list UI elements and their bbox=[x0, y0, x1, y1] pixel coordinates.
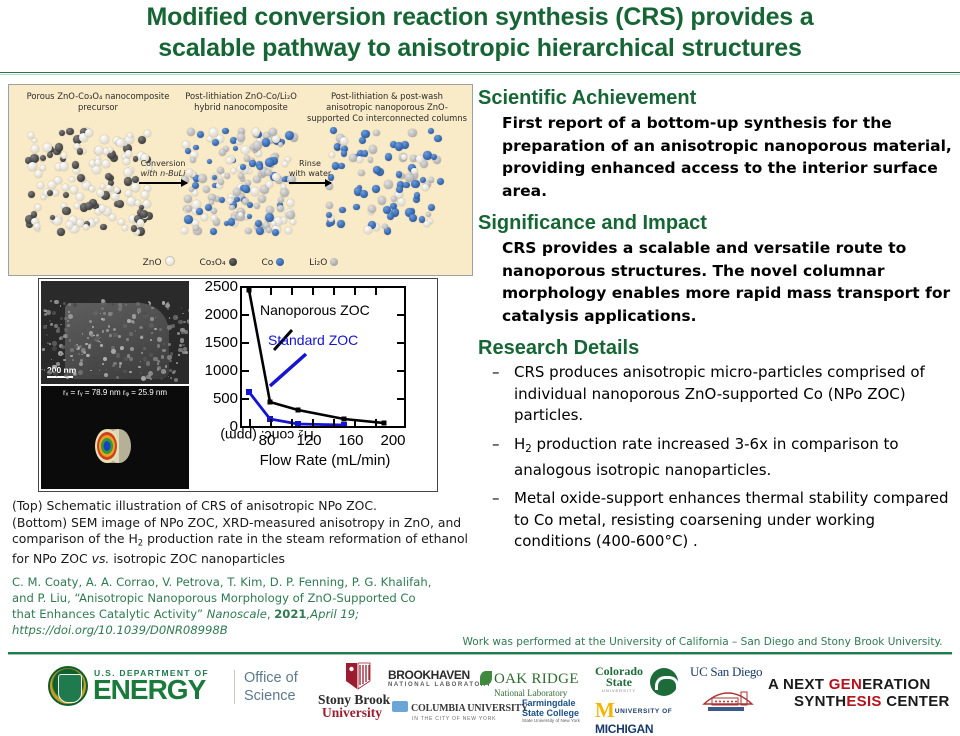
chart-xtick-top bbox=[249, 288, 251, 295]
schematic-caption-1: Porous ZnO-Co₃O₄ nanocomposite precursor bbox=[23, 91, 173, 113]
chart-xtick-bottom bbox=[270, 419, 272, 426]
research-detail-item: –H2 production rate increased 3-6x in co… bbox=[478, 434, 956, 482]
chart-xtick-label: 200 bbox=[373, 432, 413, 449]
chart-ytick-label: 1000 bbox=[182, 362, 238, 379]
chart-ytick-right bbox=[397, 370, 404, 372]
sponsor-logo-strip: U.S. DEPARTMENT OF ENERGY Office of Scie… bbox=[0, 658, 960, 720]
section-heading-significance-impact: Significance and Impact bbox=[478, 211, 956, 235]
doe-energy-wordmark: ENERGY bbox=[93, 676, 205, 704]
chart-ytick-label: 500 bbox=[182, 390, 238, 407]
conversion-arrow-label-1: Conversion bbox=[135, 159, 191, 169]
figure-caption: (Top) Schematic illustration of CRS of a… bbox=[12, 498, 477, 567]
caption-line-2: (Bottom) SEM image of NPo ZOC, XRD-measu… bbox=[12, 515, 477, 532]
legend-swatch-co bbox=[276, 258, 284, 266]
right-content-column: Scientific Achievement First report of a… bbox=[478, 86, 956, 560]
legend-item-co: Co bbox=[261, 258, 284, 268]
ucsd-logo: UC San Diego bbox=[690, 664, 762, 680]
chart-xtick-bottom bbox=[375, 419, 377, 426]
michigan-line-1: UNIVERSITY OF bbox=[615, 708, 673, 716]
section-heading-scientific-achievement: Scientific Achievement bbox=[478, 86, 956, 110]
farmingdale-line-3: State University of New York bbox=[522, 718, 580, 723]
section-heading-research-details: Research Details bbox=[478, 336, 956, 360]
columbia-line-1: COLUMBIA UNIVERSITY bbox=[411, 703, 528, 714]
ucsd-wordmark: UC San Diego bbox=[690, 664, 762, 680]
chart-y-axis-label: H₂ conc. (ppm) bbox=[150, 278, 174, 492]
caption-line-1: (Top) Schematic illustration of CRS of a… bbox=[12, 498, 477, 515]
list-dash-icon: – bbox=[492, 362, 500, 384]
chart-ytick-right bbox=[397, 398, 404, 400]
chart-ytick-label: 1500 bbox=[182, 334, 238, 351]
series-label-nanoporous-zoc: Nanoporous ZOC bbox=[260, 302, 370, 318]
colorado-line-2: State bbox=[595, 677, 643, 688]
citation-line-3: that Enhances Catalytic Activity” Nanosc… bbox=[12, 606, 482, 622]
chart-xtick-label: 120 bbox=[289, 432, 329, 449]
oak-ridge-line-2: National Laboratory bbox=[494, 688, 579, 698]
legend-swatch-co3o4 bbox=[229, 258, 237, 266]
chart-xtick-bottom bbox=[249, 419, 251, 426]
chart-xtick-label: 80 bbox=[247, 432, 287, 449]
section-body-scientific-achievement: First report of a bottom-up synthesis fo… bbox=[502, 112, 956, 202]
stony-brook-shield-icon bbox=[345, 662, 371, 690]
research-detail-item: –Metal oxide-support enhances thermal st… bbox=[478, 488, 956, 553]
columbia-line-2: IN THE CITY OF NEW YORK bbox=[412, 716, 528, 722]
chart-x-axis-label: Flow Rate (mL/min) bbox=[220, 452, 430, 469]
legend-swatch-li2o bbox=[330, 258, 338, 266]
brookhaven-line-1: BROOKHAVEN bbox=[388, 668, 492, 682]
caption-line-3: comparison of the H2 production rate in … bbox=[12, 531, 477, 551]
ngsc-line-1: A NEXT GENERATION bbox=[768, 676, 931, 693]
doe-divider bbox=[234, 670, 235, 704]
title-line-1: Modified conversion reaction synthesis (… bbox=[0, 2, 960, 33]
chart-xtick-bottom bbox=[312, 419, 314, 426]
doe-seal-icon bbox=[48, 666, 88, 706]
arrow-shaft-icon bbox=[139, 182, 187, 184]
list-dash-icon: – bbox=[492, 434, 500, 456]
chart-ytick bbox=[242, 314, 249, 316]
lithiated-nanocomposite-render bbox=[181, 127, 299, 237]
citation-line-2: and P. Liu, “Anisotropic Nanoporous Morp… bbox=[12, 590, 482, 606]
precursor-nanocomposite-render bbox=[25, 127, 153, 237]
brookhaven-line-2: NATIONAL LABORATORY bbox=[388, 682, 492, 688]
michigan-line-2: MICHIGAN bbox=[595, 723, 672, 735]
ellipsoid-icon bbox=[85, 424, 141, 468]
legend-item-co3o4: Co₃O₄ bbox=[199, 258, 236, 268]
chart-xtick-top bbox=[333, 288, 335, 295]
washed-nanoporous-render bbox=[325, 127, 445, 237]
arrow-shaft-icon bbox=[289, 182, 331, 184]
citation-line-1: C. M. Coaty, A. A. Corrao, V. Petrova, T… bbox=[12, 574, 482, 590]
list-dash-icon: – bbox=[492, 488, 500, 510]
schematic-legend: ZnO Co₃O₄ Co Li₂O bbox=[9, 256, 472, 268]
title-divider bbox=[0, 72, 960, 76]
ucsd-geisel-icon bbox=[700, 682, 756, 714]
h2-concentration-chart: 2500 2000 1500 1000 500 0 80 120 160 200… bbox=[176, 280, 434, 490]
farmingdale-logo: Farmingdale State College State Universi… bbox=[522, 698, 580, 723]
page-title: Modified conversion reaction synthesis (… bbox=[0, 2, 960, 70]
chart-xtick-bottom bbox=[354, 419, 356, 426]
chart-xtick-top bbox=[375, 288, 377, 295]
legend-item-zno: ZnO bbox=[143, 256, 175, 268]
series-label-standard-zoc: Standard ZOC bbox=[268, 332, 358, 348]
colorado-state-logo: Colorado State UNIVERSITY bbox=[595, 666, 643, 693]
chart-ytick bbox=[242, 398, 249, 400]
title-line-2: scalable pathway to anisotropic hierarch… bbox=[0, 33, 960, 64]
columbia-crown-icon bbox=[392, 701, 408, 712]
michigan-m-icon: M bbox=[595, 698, 615, 723]
chart-xtick-top bbox=[354, 288, 356, 295]
chart-ytick-label: 2500 bbox=[182, 278, 238, 295]
rinse-arrow: Rinse with water bbox=[284, 159, 336, 184]
chart-xtick-top bbox=[291, 288, 293, 295]
conversion-arrow-label-2: with n-BuLi bbox=[135, 169, 191, 179]
research-detail-item: –CRS produces anisotropic micro-particle… bbox=[478, 362, 956, 427]
ngsc-line-2: SYNTHESIS CENTER bbox=[794, 693, 950, 710]
crs-schematic-figure: Porous ZnO-Co₃O₄ nanocomposite precursor… bbox=[8, 84, 473, 276]
oak-ridge-logo: OAK RIDGE National Laboratory bbox=[480, 670, 579, 698]
stony-brook-line-2: University bbox=[322, 705, 382, 721]
farmingdale-line-2: State College bbox=[522, 708, 580, 718]
citation-doi-link[interactable]: https://doi.org/10.1039/D0NR08998B bbox=[12, 622, 482, 638]
chart-ytick bbox=[242, 370, 249, 372]
chart-ytick-label: 0 bbox=[182, 418, 238, 435]
citation-block: C. M. Coaty, A. A. Corrao, V. Petrova, T… bbox=[12, 574, 482, 638]
schematic-caption-3: Post-lithiation & post-wash anisotropic … bbox=[307, 91, 467, 124]
conversion-arrow: Conversion with n-BuLi bbox=[135, 159, 191, 184]
rinse-arrow-label-2: with water bbox=[284, 169, 336, 179]
colorado-ram-icon bbox=[650, 668, 678, 696]
footer-divider bbox=[8, 652, 952, 655]
columbia-logo: COLUMBIA UNIVERSITY IN THE CITY OF NEW Y… bbox=[392, 698, 528, 722]
chart-ytick-right bbox=[397, 314, 404, 316]
office-of-science-label: Office of Science bbox=[244, 669, 298, 705]
chart-xtick-label: 160 bbox=[331, 432, 371, 449]
chart-ytick bbox=[242, 342, 249, 344]
chart-xtick-top bbox=[312, 288, 314, 295]
legend-swatch-zno bbox=[165, 256, 175, 266]
farmingdale-line-1: Farmingdale bbox=[522, 698, 580, 708]
brookhaven-logo: BROOKHAVEN NATIONAL LABORATORY bbox=[388, 668, 492, 688]
chart-xtick-bottom bbox=[333, 419, 335, 426]
schematic-caption-2: Post-lithiation ZnO-Co/Li₂O hybrid nanoc… bbox=[177, 91, 305, 113]
rinse-arrow-label-1: Rinse bbox=[284, 159, 336, 169]
michigan-logo: MUNIVERSITY OFMICHIGAN bbox=[595, 698, 672, 735]
chart-xtick-top bbox=[270, 288, 272, 295]
legend-item-li2o: Li₂O bbox=[309, 258, 338, 268]
work-performed-note: Work was performed at the University of … bbox=[455, 636, 950, 648]
chart-ytick-label: 2000 bbox=[182, 306, 238, 323]
ngsc-logo: A NEXT GENERATION SYNTHESIS CENTER bbox=[768, 676, 950, 710]
oak-leaf-icon bbox=[480, 671, 492, 685]
colorado-line-3: UNIVERSITY bbox=[595, 688, 643, 693]
chart-xtick-bottom bbox=[291, 419, 293, 426]
oak-ridge-line-1: OAK RIDGE bbox=[494, 671, 579, 687]
chart-ytick-right bbox=[397, 342, 404, 344]
section-body-significance-impact: CRS provides a scalable and versatile ro… bbox=[502, 237, 956, 327]
caption-line-4: for NPo ZOC vs. isotropic ZOC nanopartic… bbox=[12, 551, 477, 568]
